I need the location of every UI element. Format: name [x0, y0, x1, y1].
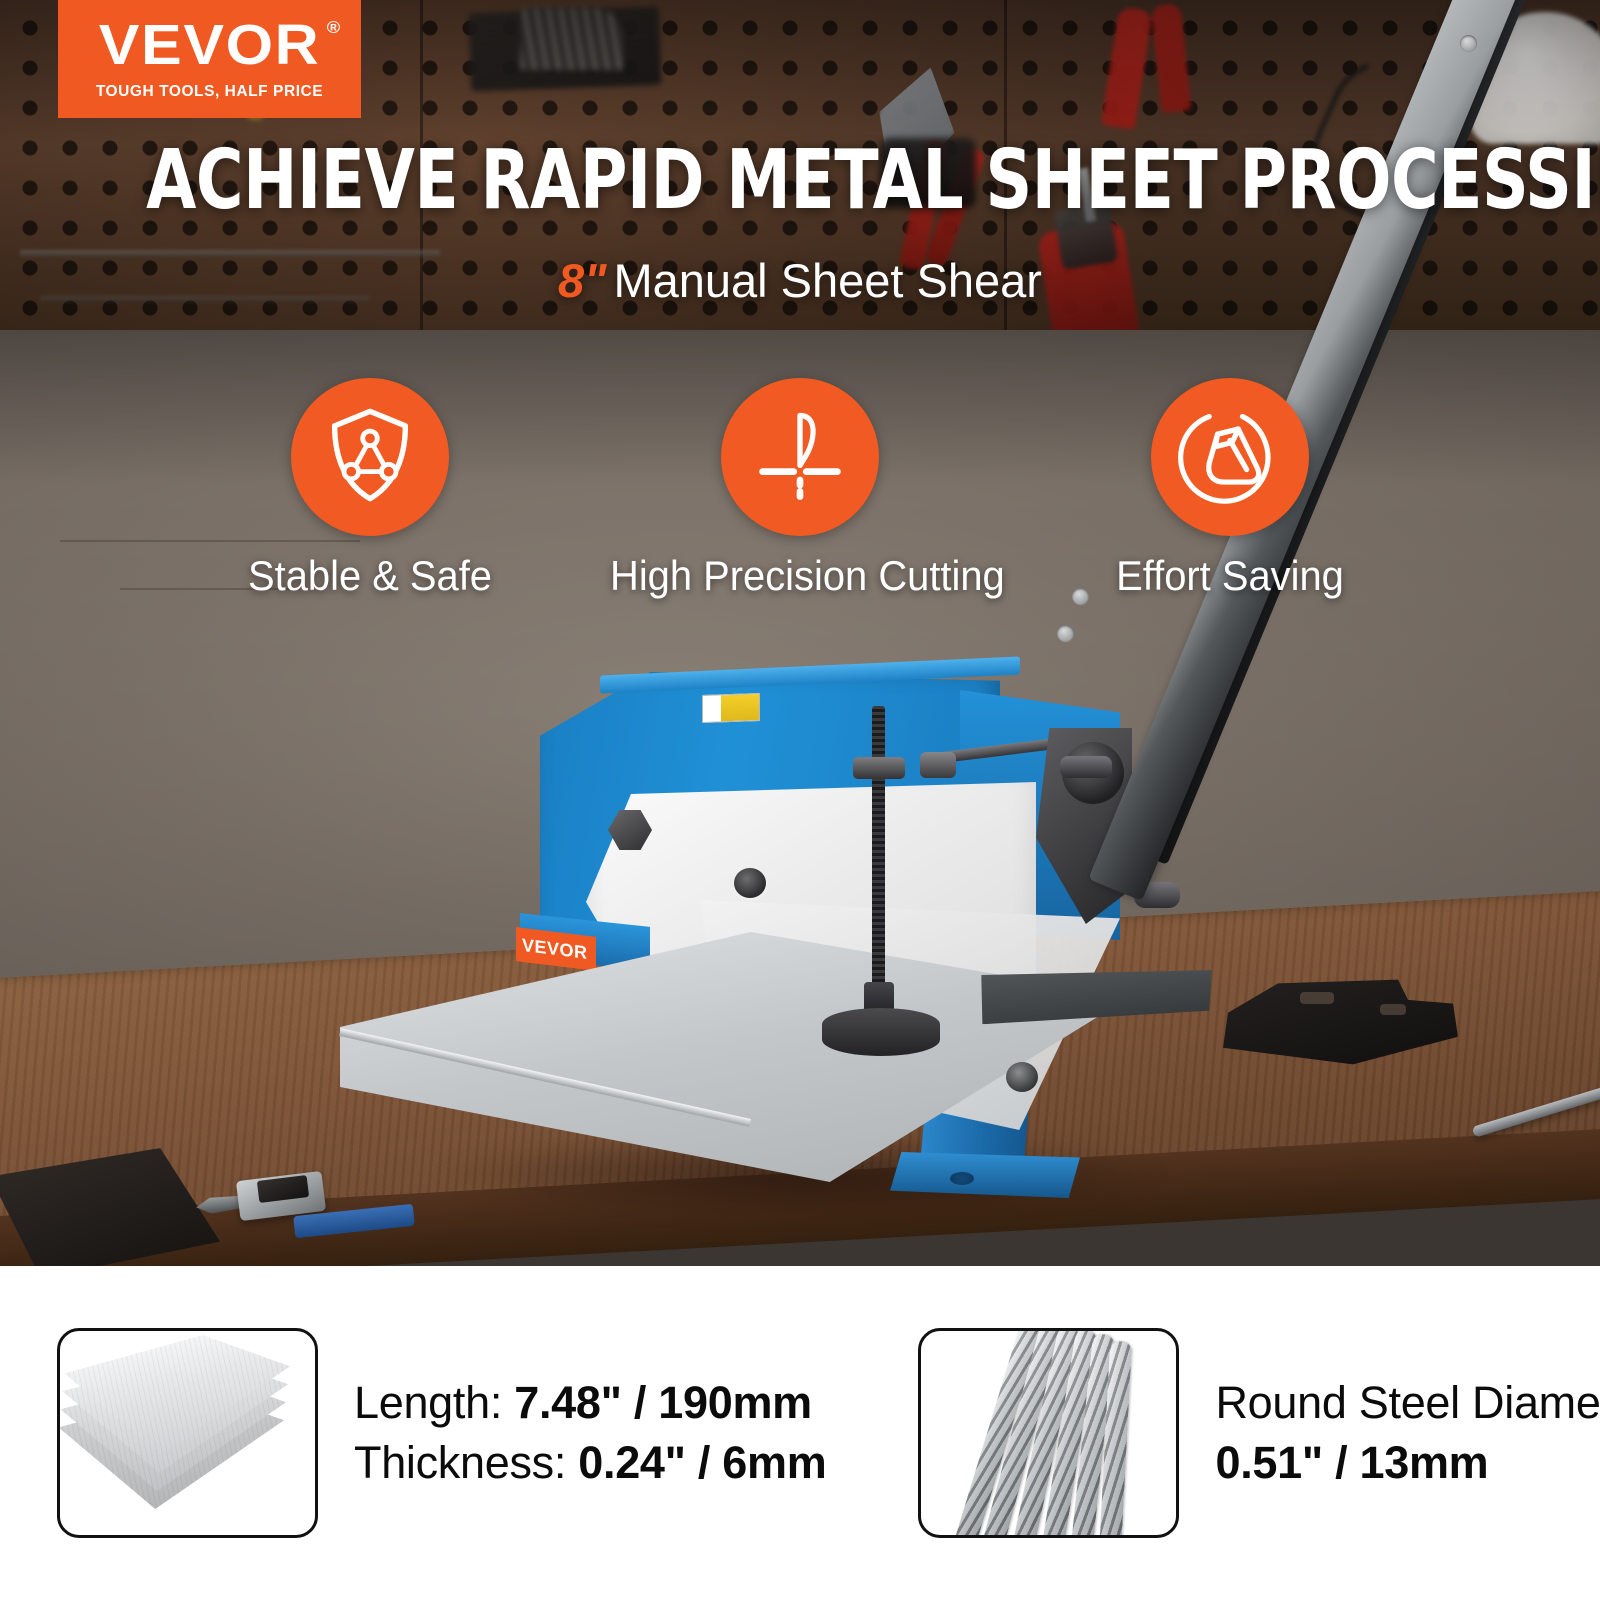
hold-down-threaded-rod	[872, 706, 885, 1016]
sheet-stack-illustration	[60, 1331, 315, 1535]
specification-panel: Length: 7.48" / 190mm Thickness: 0.24" /…	[0, 1266, 1600, 1600]
rebar-bundle-illustration	[921, 1331, 1176, 1535]
product-marketing-poster: VEVOR VE	[0, 0, 1600, 1600]
spec-diameter-label-line: Round Steel Diameter:	[1215, 1373, 1600, 1433]
spec-sheet-dimensions: Length: 7.48" / 190mm Thickness: 0.24" /…	[57, 1328, 826, 1538]
feature-stable-safe: Stable & Safe	[170, 378, 570, 600]
spec-round-steel-diameter: Round Steel Diameter: 0.51" / 13mm	[918, 1328, 1600, 1538]
steel-rebar-thumbnail	[918, 1328, 1179, 1538]
subtitle-size: 8"	[558, 254, 606, 307]
handle-hole	[1057, 625, 1074, 642]
brand-name: VEVOR	[99, 13, 321, 77]
brand-tagline: TOUGH TOOLS, HALF PRICE	[96, 83, 323, 101]
spec-thickness-value: 0.24" / 6mm	[578, 1437, 826, 1488]
machine-base-foot	[890, 1152, 1080, 1198]
page-headline: ACHIEVE RAPID METAL SHEET PROCESSING	[40, 140, 1560, 222]
feature-label: Stable & Safe	[180, 552, 560, 600]
spec-thickness-label: Thickness:	[354, 1437, 566, 1488]
handle-hole	[1460, 35, 1477, 52]
foot-mounting-hole	[950, 1172, 974, 1185]
feature-effort-saving: Effort Saving	[1030, 378, 1430, 600]
leg-bolt	[1006, 1062, 1038, 1092]
feature-icon-circle	[721, 378, 879, 536]
spec-thickness-line: Thickness: 0.24" / 6mm	[354, 1433, 826, 1493]
registered-mark: ®	[327, 19, 342, 36]
spec-diameter-value-line: 0.51" / 13mm	[1215, 1433, 1600, 1493]
headline-text: ACHIEVE RAPID METAL SHEET PROCESSING	[146, 140, 1600, 222]
subtitle-text: Manual Sheet Shear	[613, 254, 1042, 307]
face-hole	[734, 868, 766, 898]
rod-adjust-knob	[853, 757, 905, 779]
feature-icon-circle	[1151, 378, 1309, 536]
hold-down-clamp-foot	[822, 1008, 940, 1056]
feature-icon-circle	[291, 378, 449, 536]
spec-text-block: Length: 7.48" / 190mm Thickness: 0.24" /…	[354, 1373, 826, 1494]
feature-label: High Precision Cutting	[610, 552, 990, 600]
stacked-metal-sheets-thumbnail	[57, 1328, 318, 1538]
warning-pictogram	[703, 695, 721, 722]
spec-length-line: Length: 7.48" / 190mm	[354, 1373, 826, 1433]
linkage-knob	[920, 752, 956, 778]
spec-length-value: 7.48" / 190mm	[514, 1377, 812, 1428]
feature-high-precision-cutting: High Precision Cutting	[600, 378, 1000, 600]
warning-label	[702, 693, 760, 723]
hammer-circle-icon	[1178, 403, 1282, 512]
spec-text-block: Round Steel Diameter: 0.51" / 13mm	[1215, 1373, 1600, 1494]
brand-wordmark: VEVOR®	[99, 17, 321, 74]
page-subtitle: 8"Manual Sheet Shear	[100, 253, 1500, 308]
vevor-logo: VEVOR® TOUGH TOOLS, HALF PRICE	[58, 0, 361, 118]
feature-row: Stable & Safe High Pr	[170, 378, 1430, 600]
warning-yellow-strip	[721, 694, 759, 721]
feature-label: Effort Saving	[1040, 552, 1420, 600]
blade-crosshair-icon	[748, 403, 852, 512]
pivot-pin	[1060, 756, 1112, 778]
spec-length-label: Length:	[354, 1377, 502, 1428]
hero-photo: VEVOR VE	[0, 0, 1600, 1266]
shield-triangle-icon	[318, 403, 422, 512]
